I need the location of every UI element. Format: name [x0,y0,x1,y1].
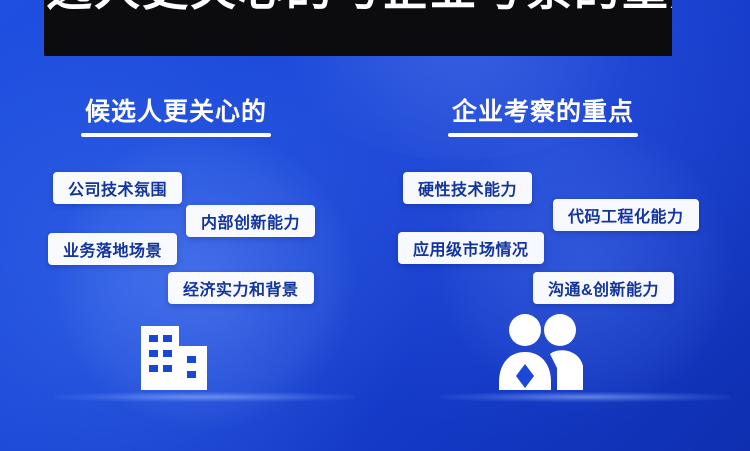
tag-item: 内部创新能力 [186,205,315,237]
tag-item: 公司技术氛围 [53,172,182,204]
column-heading-candidate-label: 候选人更关心的 [85,98,267,126]
infographic-slide: 候选人更关心的与企业考察的重点 候选人更关心的 企业考察的重点 公司技术氛围 内… [0,0,750,451]
slide-title: 候选人更关心的与企业考察的重点 [44,0,672,12]
column-heading-candidate-underline [81,133,271,137]
title-band-fill [44,40,672,56]
column-heading-enterprise-label: 企业考察的重点 [452,98,634,126]
building-icon [133,312,219,399]
tag-item: 硬性技术能力 [403,172,532,204]
title-band: 候选人更关心的与企业考察的重点 [44,0,672,56]
column-heading-enterprise: 企业考察的重点 [452,92,634,128]
column-heading-enterprise-underline [448,133,638,137]
tag-item: 经济实力和背景 [168,272,314,304]
slide-background: 候选人更关心的与企业考察的重点 候选人更关心的 企业考察的重点 公司技术氛围 内… [0,0,750,451]
tag-item: 应用级市场情况 [398,232,544,264]
column-heading-candidate: 候选人更关心的 [85,92,267,128]
tag-item: 代码工程化能力 [553,199,699,231]
tag-item: 业务落地场景 [48,233,177,265]
tag-item: 沟通&创新能力 [533,272,674,304]
people-icon [495,310,587,399]
